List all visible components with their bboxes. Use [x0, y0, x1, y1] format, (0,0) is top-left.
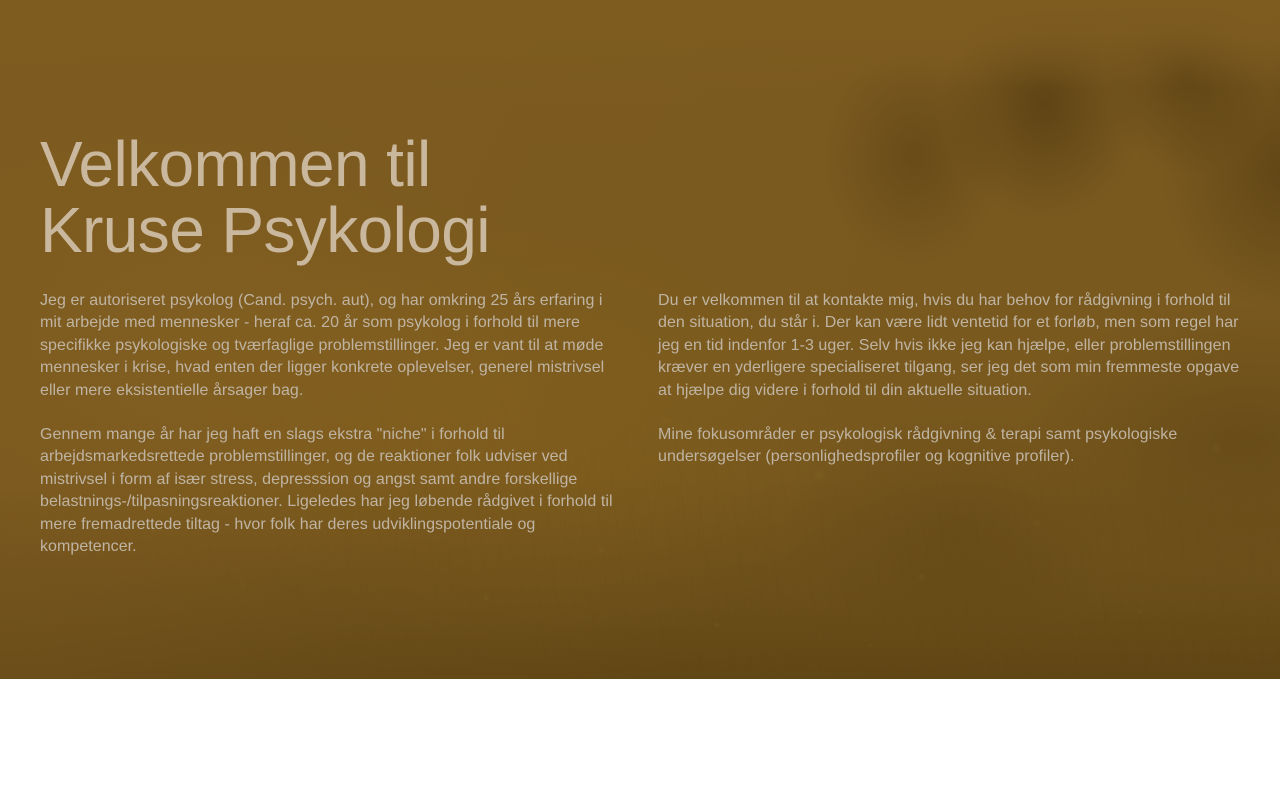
- right-paragraph-2: Mine fokusområder er psykologisk rådgivn…: [658, 424, 1240, 469]
- left-paragraph-1: Jeg er autoriseret psykolog (Cand. psych…: [40, 290, 622, 402]
- hero-content: Velkommen til Kruse Psykologi Jeg er aut…: [0, 0, 1280, 679]
- below-fold-area: [0, 679, 1280, 800]
- hero-section: Velkommen til Kruse Psykologi Jeg er aut…: [0, 0, 1280, 679]
- text-columns: Jeg er autoriseret psykolog (Cand. psych…: [40, 290, 1240, 558]
- left-paragraph-2: Gennem mange år har jeg haft en slags ek…: [40, 424, 622, 558]
- right-paragraph-1: Du er velkommen til at kontakte mig, hvi…: [658, 290, 1240, 402]
- left-text-column: Jeg er autoriseret psykolog (Cand. psych…: [40, 290, 622, 558]
- page-title: Velkommen til Kruse Psykologi: [40, 131, 800, 263]
- right-text-column: Du er velkommen til at kontakte mig, hvi…: [658, 290, 1240, 558]
